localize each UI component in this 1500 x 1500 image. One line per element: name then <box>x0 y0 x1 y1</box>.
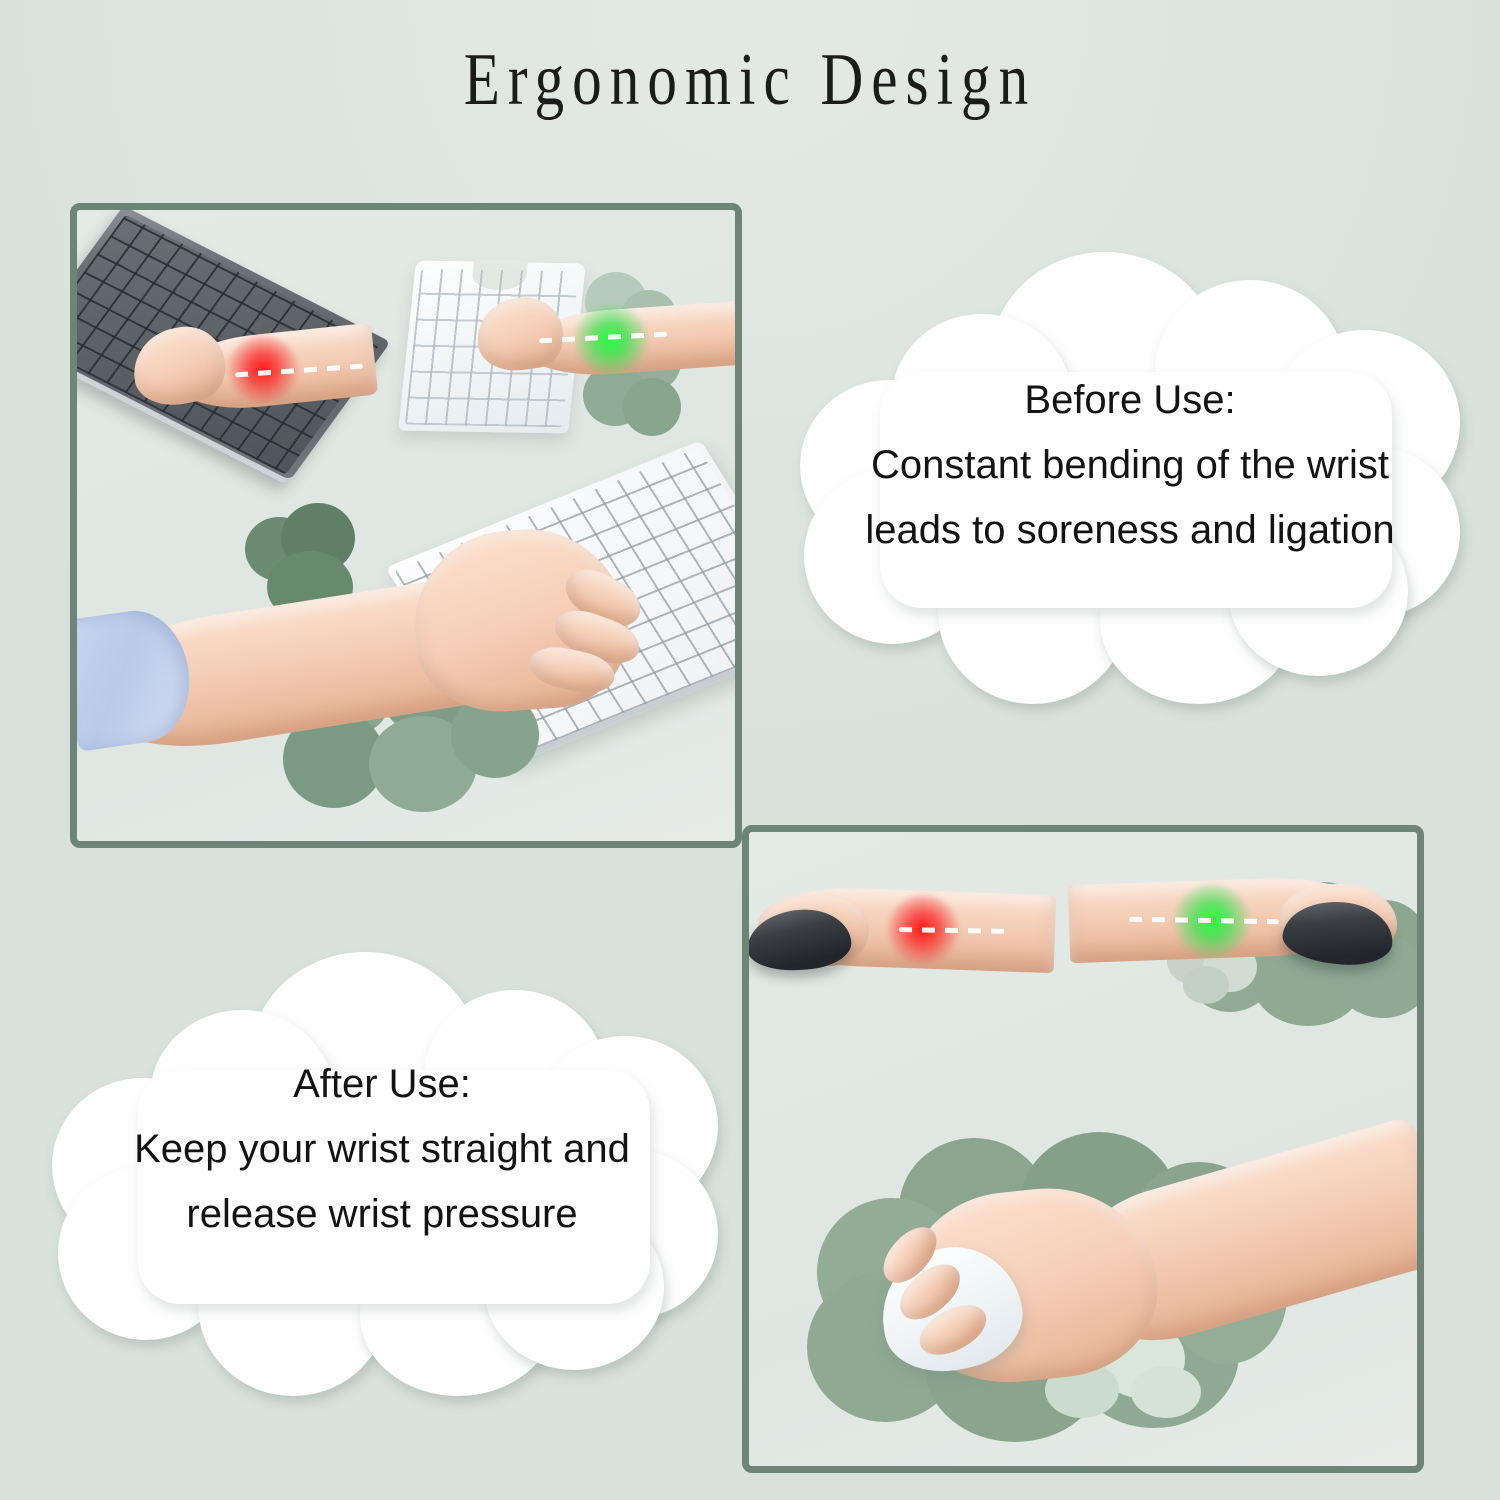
mouse-panel-scene <box>749 832 1417 1466</box>
page-title: Ergonomic Design <box>150 38 1350 123</box>
infographic-page: Ergonomic Design <box>0 0 1500 1500</box>
after-use-line-1: Keep your wrist straight and <box>52 1117 712 1182</box>
keyboard-panel-scene <box>77 210 735 841</box>
before-use-heading: Before Use: <box>800 368 1460 433</box>
mouse-panel <box>742 825 1424 1473</box>
before-use-line-1: Constant bending of the wrist <box>800 433 1460 498</box>
before-use-text: Before Use: Constant bending of the wris… <box>800 368 1460 562</box>
after-use-heading: After Use: <box>52 1052 712 1117</box>
keyboard-panel <box>70 203 742 848</box>
before-use-line-2: leads to soreness and ligation <box>800 498 1460 563</box>
after-use-text: After Use: Keep your wrist straight and … <box>52 1052 712 1246</box>
after-use-line-2: release wrist pressure <box>52 1182 712 1247</box>
